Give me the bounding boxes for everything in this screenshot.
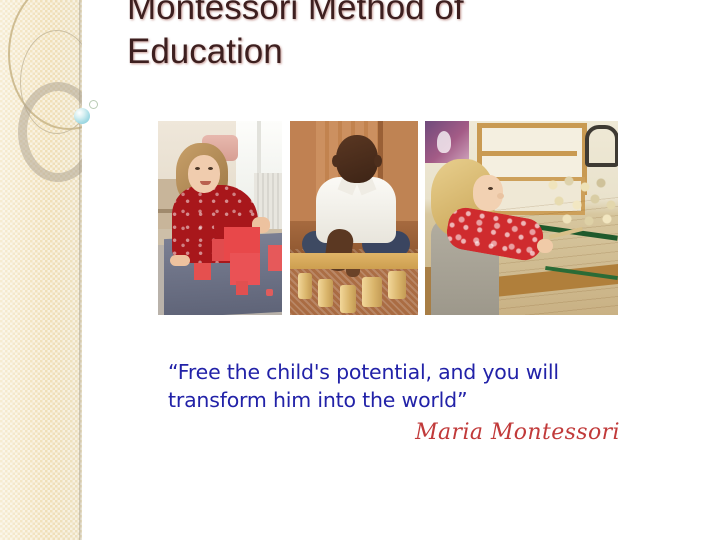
panel-edge-divider <box>79 0 82 540</box>
slide-canvas: Montessori Method of Education <box>0 0 720 540</box>
small-circle-outline-icon <box>89 100 98 109</box>
photo-2-wall-left <box>290 121 316 225</box>
photo-2-scene <box>290 121 418 315</box>
photo-1-child-face <box>188 155 220 193</box>
slide-title: Montessori Method of Education <box>127 0 627 74</box>
photo-2-cylinder-5 <box>388 271 406 299</box>
quote-attribution: Maria Montessori <box>0 420 620 445</box>
photo-1-pink-cube-5 <box>236 281 248 295</box>
photo-2-cylinder-4 <box>362 277 382 307</box>
photo-2-cylinder-3 <box>340 285 356 313</box>
photo-3-wall-hook <box>585 125 618 167</box>
photo-2-cylinder-1 <box>298 273 312 299</box>
photo-2-child-ear-right <box>374 155 382 167</box>
photo-1-scene <box>158 121 282 315</box>
photo-3-scene <box>425 121 618 315</box>
photo-2-cylinder-2 <box>318 279 333 307</box>
thick-ring-icon <box>18 82 82 182</box>
teal-sphere-icon <box>74 108 90 124</box>
inner-ring-icon <box>20 30 82 134</box>
photo-1-child-eye-left <box>195 167 200 170</box>
photo-2-child-head <box>336 135 378 183</box>
photo-boy-cylinder-blocks <box>290 121 418 315</box>
photo-1-pink-cube-7 <box>266 289 273 296</box>
photo-3-wall-poster <box>425 121 469 163</box>
quote-text: “Free the child's potential, and you wil… <box>168 358 608 414</box>
photo-1-child-eye-right <box>208 167 213 170</box>
photo-3-child-nose <box>497 193 504 199</box>
decorative-side-panel <box>0 0 82 540</box>
photo-girl-montessori-bells <box>425 121 618 315</box>
thin-ring-icon <box>8 0 82 130</box>
photo-2-child-ear-left <box>332 155 340 167</box>
photo-2-cylinder-block-rail <box>290 253 418 269</box>
photo-3-montessori-bells <box>545 175 618 231</box>
photo-1-pink-cube-4 <box>194 263 211 280</box>
photo-1-pink-cube-6 <box>268 245 282 271</box>
photo-3-child-hand <box>537 239 553 253</box>
photo-2-child-shirt <box>316 177 396 243</box>
photo-girl-pink-tower <box>158 121 282 315</box>
photo-3-shelf-divider <box>477 151 577 156</box>
photo-1-child-hand-left <box>170 255 190 266</box>
photo-3-child-eye <box>488 187 493 190</box>
decorative-circles-group <box>0 0 82 250</box>
